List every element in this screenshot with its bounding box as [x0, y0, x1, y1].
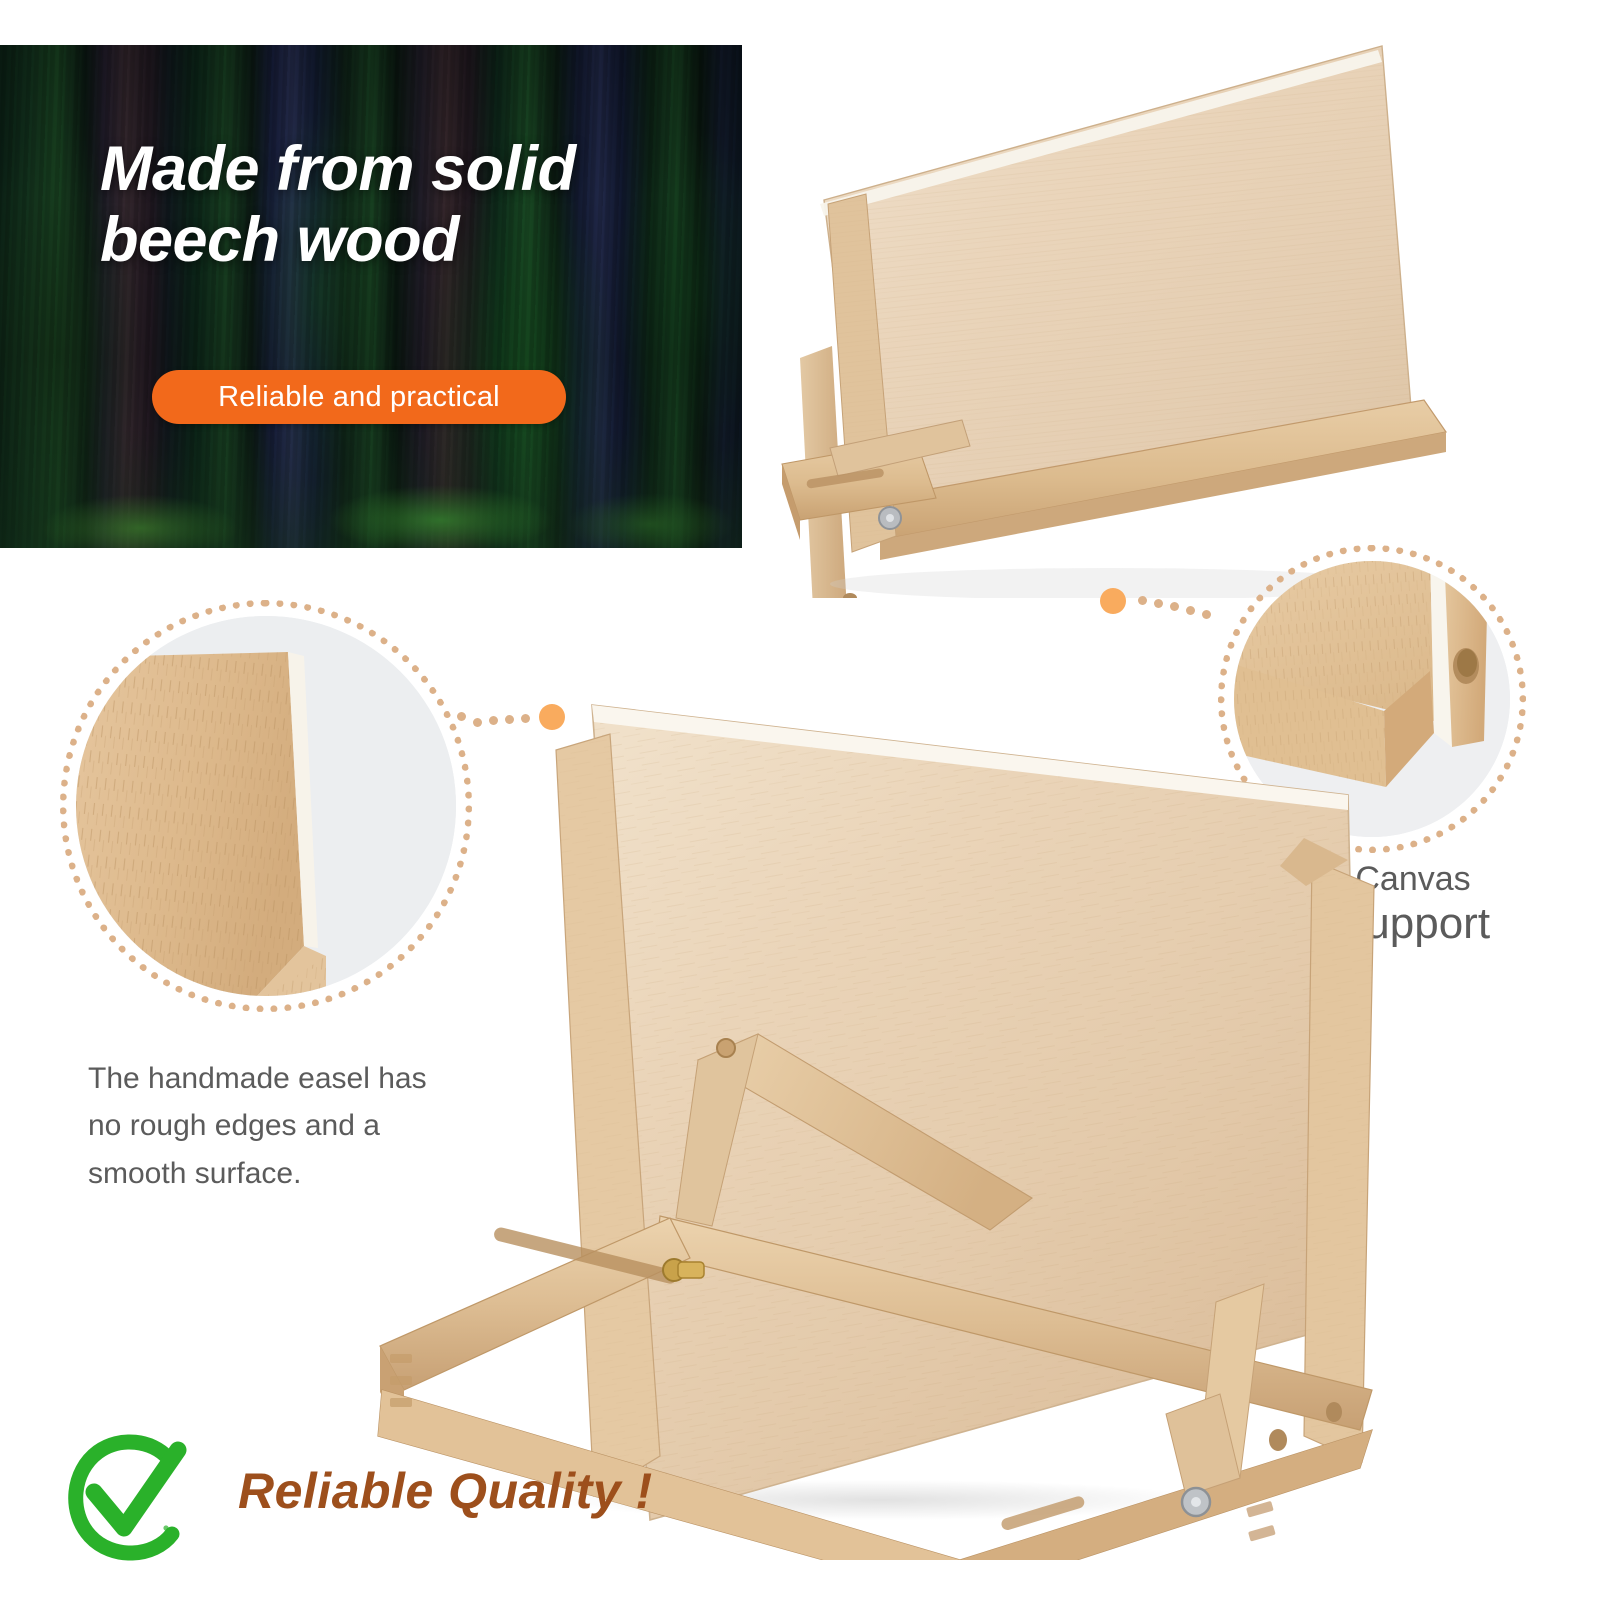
leader-dot: [1170, 602, 1179, 611]
quality-badge: Reliable Quality !: [60, 1432, 660, 1572]
brass-thumbscrew: [663, 1259, 704, 1281]
easel-front-view-image: [770, 28, 1470, 598]
leader-dot: [1186, 606, 1195, 615]
check-stroke: [94, 1450, 178, 1528]
right-stile-hole: [1269, 1429, 1287, 1451]
leader-dot: [1202, 610, 1211, 619]
body-copy: The handmade easel has no rough edges an…: [88, 1055, 518, 1197]
hero-heading: Made from solid beech wood: [100, 134, 700, 276]
leader-anchor-dot: [1100, 588, 1126, 614]
strut-pivot-top: [717, 1039, 735, 1057]
hero-badge-label: Reliable and practical: [218, 381, 500, 414]
leader-dot: [1154, 599, 1163, 608]
photo-vignette-overlay: [0, 45, 742, 548]
leader-dot: [1138, 596, 1147, 605]
easel-front-view-illustration: [770, 28, 1470, 598]
product-infographic: Made from solid beech wood Reliable and …: [0, 0, 1600, 1600]
hero-badge: Reliable and practical: [152, 370, 566, 424]
green-brush-check-circle-icon: [60, 1432, 210, 1572]
right-stile-hole-2: [1326, 1402, 1342, 1422]
hero-forest-photo: [0, 45, 742, 548]
quality-label: Reliable Quality !: [238, 1462, 653, 1520]
check-circle-svg: [60, 1432, 210, 1572]
